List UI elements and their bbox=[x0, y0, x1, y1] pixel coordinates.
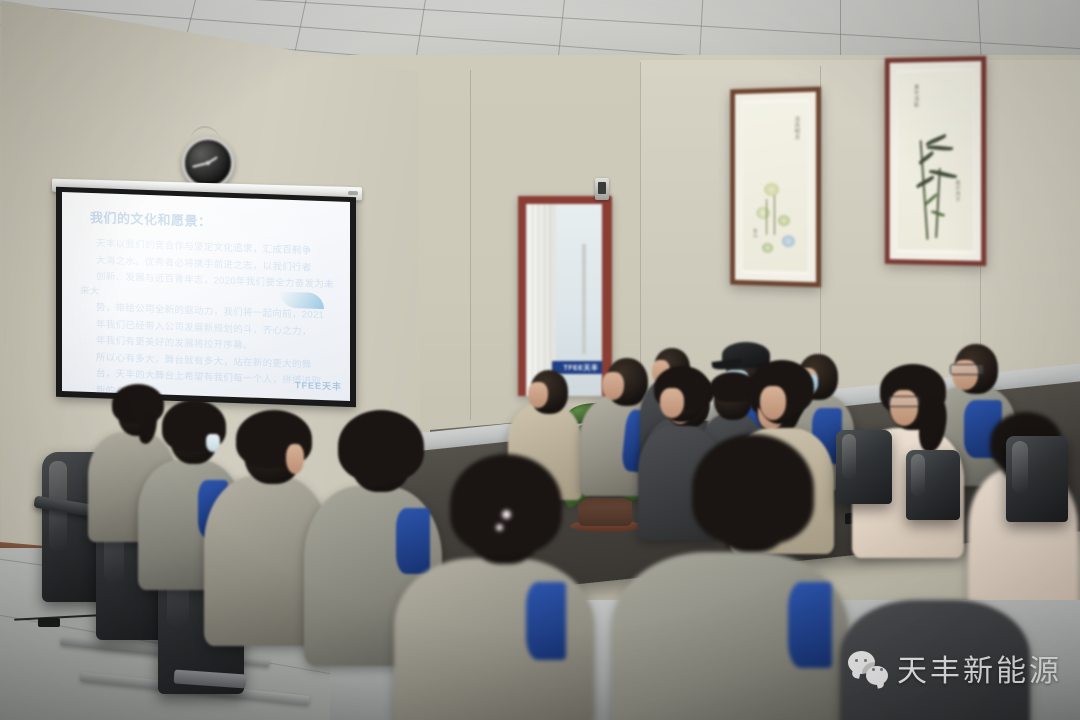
clock-center-pin bbox=[206, 161, 210, 165]
door-sensor-device bbox=[595, 178, 609, 200]
slide-surface: 我们的文化和愿景： 天丰以我们的竞合作与坚定文化追求，汇成百舸争 大海之水。优秀… bbox=[62, 192, 350, 401]
company-sign: TFEE天丰 bbox=[552, 361, 602, 374]
framed-painting-chrysanthemum: 清风明月 款识 bbox=[730, 87, 821, 288]
wechat-bubble-small bbox=[866, 666, 888, 685]
framed-painting-bamboo: 墨竹清影 题识诗文 bbox=[885, 56, 986, 266]
door-pole bbox=[582, 244, 586, 354]
slide-logo: TFEE天丰 bbox=[295, 378, 342, 393]
eyeglasses bbox=[888, 396, 920, 407]
plant-pot bbox=[578, 498, 632, 526]
wall-seam bbox=[470, 70, 471, 420]
wechat-watermark: 天丰新能源 bbox=[848, 646, 1062, 690]
wechat-icon bbox=[848, 651, 888, 685]
painting-seal-text: 款识 bbox=[752, 229, 758, 263]
cable-connector-box bbox=[38, 618, 60, 627]
office-chair[interactable] bbox=[836, 430, 892, 504]
chair-highlight bbox=[911, 454, 925, 496]
wall-clock bbox=[182, 137, 234, 189]
meeting-room-photo: 我们的文化和愿景： 天丰以我们的竞合作与坚定文化追求，汇成百舸争 大海之水。优秀… bbox=[0, 0, 1080, 720]
painting-calligraphy: 墨竹清影 bbox=[913, 84, 919, 126]
watermark-account-name: 天丰新能源 bbox=[897, 646, 1062, 690]
hair-clip bbox=[502, 510, 511, 519]
painting-inscription: 题识诗文 bbox=[955, 180, 961, 236]
office-chair[interactable] bbox=[906, 450, 960, 520]
slide-body-text: 天丰以我们的竞合作与坚定文化追求，汇成百舸争 大海之水。优秀者必将携手前进之志，… bbox=[80, 237, 336, 401]
painting-paper: 清风明月 款识 bbox=[743, 102, 808, 272]
projection-screen: 我们的文化和愿景： 天丰以我们的竞合作与坚定文化追求，汇成百舸争 大海之水。优秀… bbox=[56, 187, 356, 407]
eyeglasses bbox=[950, 364, 984, 375]
chair-highlight bbox=[1012, 441, 1028, 493]
chair-highlight bbox=[842, 434, 857, 478]
painting-paper: 墨竹清影 题识诗文 bbox=[898, 71, 974, 250]
office-chair[interactable] bbox=[1006, 436, 1068, 522]
door-opening: TFEE天丰 bbox=[526, 204, 602, 396]
painting-calligraphy: 清风明月 bbox=[794, 116, 800, 162]
screen-pull-knob[interactable] bbox=[348, 191, 358, 195]
hair-clip bbox=[496, 524, 503, 531]
doorway[interactable]: TFEE天丰 bbox=[518, 196, 612, 396]
slide-title: 我们的文化和愿景： bbox=[90, 207, 212, 230]
